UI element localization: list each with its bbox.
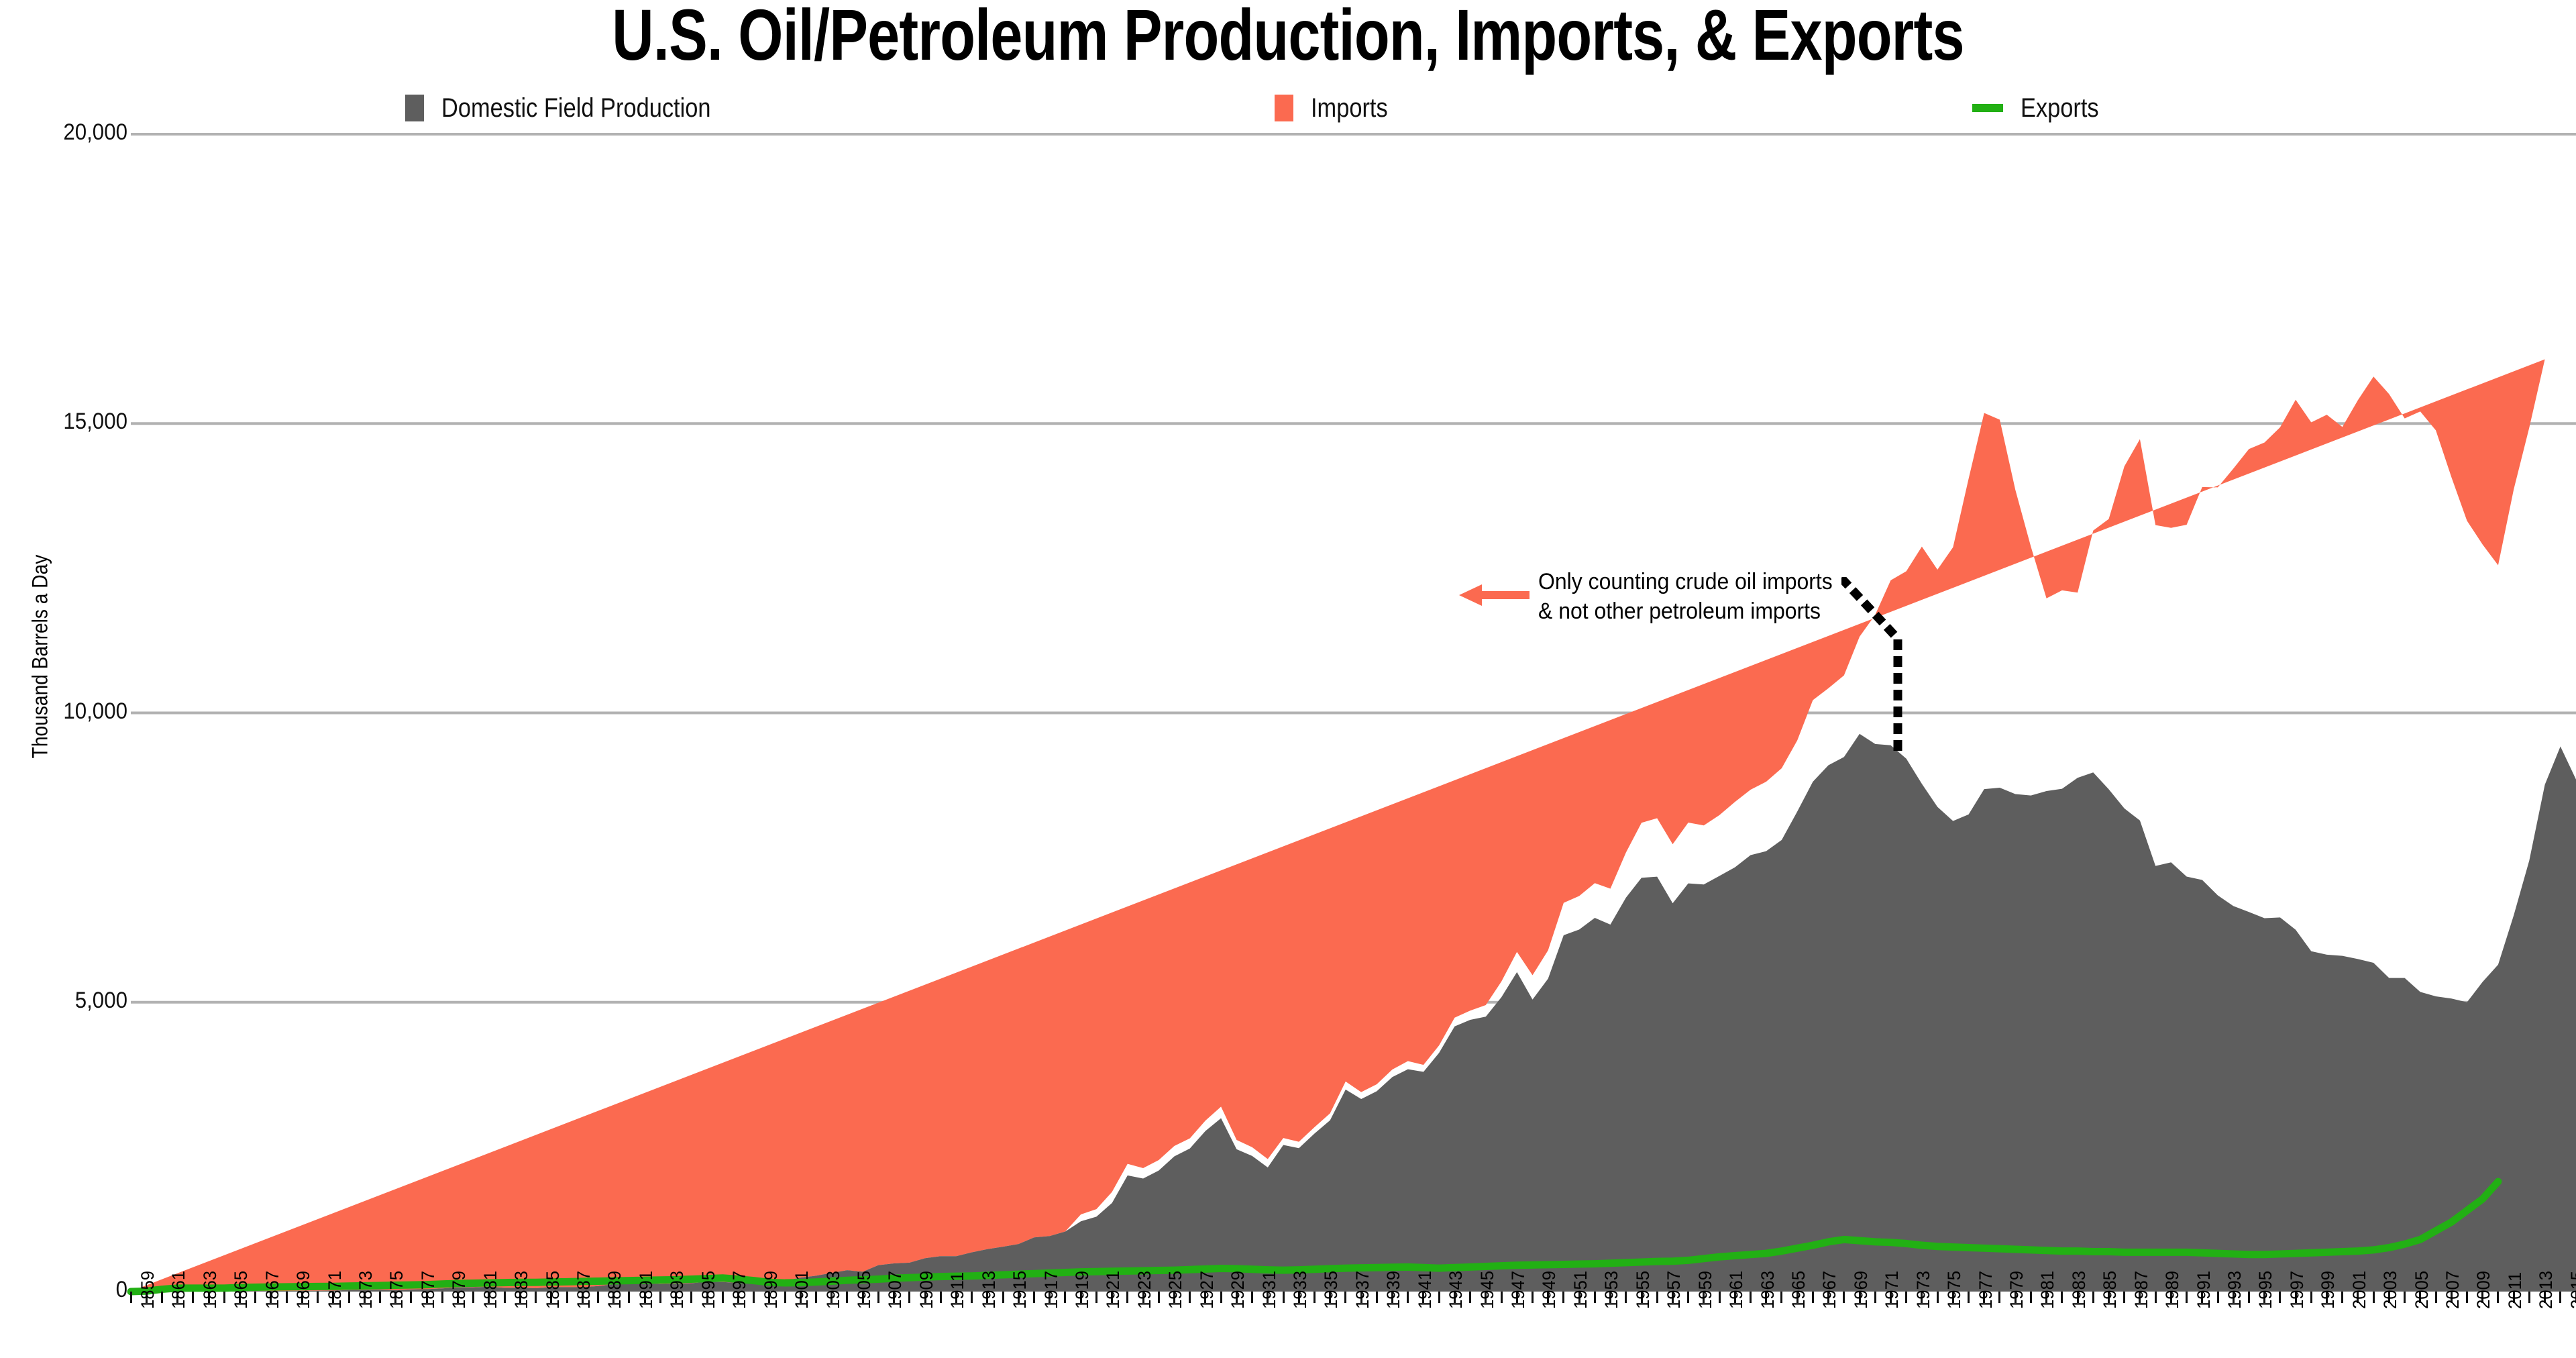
x-tick-label: 1975 (1944, 1271, 1965, 1309)
x-tick-label: 1985 (2100, 1271, 2121, 1309)
x-tick-label: 1977 (1976, 1271, 1996, 1309)
x-tickmark (1376, 1292, 1378, 1303)
x-tickmark (286, 1292, 288, 1303)
x-tickmark (2092, 1292, 2094, 1303)
x-tickmark (908, 1292, 910, 1303)
x-tick-label: 1981 (2037, 1271, 2058, 1309)
x-tick-label: 1883 (511, 1271, 532, 1309)
x-tick-label: 1965 (1788, 1271, 1809, 1309)
x-tick-label: 1945 (1477, 1271, 1498, 1309)
x-tick-label: 1865 (231, 1271, 252, 1309)
x-tickmark (971, 1292, 973, 1303)
x-tick-label: 1911 (947, 1272, 968, 1309)
annotation-arrow-icon (1459, 582, 1529, 609)
x-tickmark (1905, 1292, 1907, 1303)
x-tick-label: 1991 (2194, 1271, 2214, 1309)
x-tick-label: 1989 (2162, 1271, 2183, 1309)
x-tick-label: 1997 (2287, 1271, 2308, 1309)
x-tickmark (1843, 1292, 1845, 1303)
x-tickmark (784, 1292, 786, 1303)
x-tickmark (1532, 1292, 1534, 1303)
annotation-line-2: & not other petroleum imports (1538, 596, 1833, 626)
x-tickmark (1126, 1292, 1128, 1303)
x-tickmark (472, 1292, 474, 1303)
x-tick-label: 1863 (200, 1271, 221, 1309)
x-tickmark (1344, 1292, 1346, 1303)
x-tick-label: 1987 (2131, 1271, 2152, 1309)
x-tick-label: 1891 (636, 1271, 657, 1309)
x-tick-label: 2009 (2473, 1271, 2494, 1309)
x-tickmark (1562, 1292, 1564, 1303)
x-tick-label: 2001 (2349, 1271, 2370, 1309)
x-tick-label: 1979 (2006, 1271, 2027, 1309)
chart-root: U.S. Oil/Petroleum Production, Imports, … (0, 0, 2576, 1358)
x-tick-label: 1983 (2069, 1271, 2090, 1309)
legend-swatch-exports-icon (1972, 104, 2003, 112)
x-tick-label: 1959 (1695, 1271, 1716, 1309)
x-tickmark (1002, 1292, 1004, 1303)
x-tick-label: 1889 (604, 1271, 625, 1309)
x-tickmark (1438, 1292, 1440, 1303)
x-tickmark (317, 1292, 319, 1303)
y-axis: 05,00010,00015,00020,000 (0, 0, 127, 1358)
legend-swatch-production-icon (405, 95, 424, 121)
plot-svg (131, 134, 2576, 1292)
x-tick-label: 1877 (418, 1271, 439, 1309)
x-tickmark (1719, 1292, 1721, 1303)
x-tickmark (1313, 1292, 1316, 1303)
x-tickmark (846, 1292, 848, 1303)
x-tickmark (1937, 1292, 1939, 1303)
x-tickmark (2435, 1292, 2437, 1303)
x-tickmark (1501, 1292, 1503, 1303)
x-tick-label: 1937 (1352, 1271, 1373, 1309)
x-tickmark (2404, 1292, 2406, 1303)
x-tickmark (1780, 1292, 1782, 1303)
x-tick-label: 1967 (1819, 1271, 1840, 1309)
legend-label-imports: Imports (1311, 93, 1388, 123)
x-tick-label: 1939 (1383, 1271, 1404, 1309)
x-tick-label: 2011 (2505, 1272, 2526, 1309)
x-tickmark (2030, 1292, 2032, 1303)
x-tickmark (1812, 1292, 1814, 1303)
legend-label-exports: Exports (2021, 93, 2099, 123)
x-tickmark (1220, 1292, 1222, 1303)
x-tick-label: 2007 (2443, 1271, 2463, 1309)
x-tick-label: 1917 (1041, 1271, 1062, 1309)
x-tickmark (161, 1292, 163, 1303)
x-tickmark (2061, 1292, 2063, 1303)
x-tick-label: 1973 (1913, 1271, 1934, 1309)
x-tick-label: 1901 (792, 1271, 812, 1309)
x-tick-label: 1925 (1165, 1271, 1186, 1309)
x-tickmark (2279, 1292, 2281, 1303)
x-tickmark (2155, 1292, 2157, 1303)
x-tickmark (722, 1292, 724, 1303)
x-tickmark (877, 1292, 879, 1303)
x-tickmark (2528, 1292, 2530, 1303)
x-tick-label: 1879 (449, 1271, 470, 1309)
x-tickmark (410, 1292, 412, 1303)
x-tickmark (1469, 1292, 1471, 1303)
x-tick-label: 1875 (386, 1271, 407, 1309)
x-tick-label: 1919 (1072, 1271, 1093, 1309)
x-tickmark (2248, 1292, 2250, 1303)
x-tick-label: 1969 (1851, 1271, 1872, 1309)
x-tick-label: 1873 (356, 1271, 376, 1309)
x-tickmark (753, 1292, 755, 1303)
x-axis: 1859186118631865186718691871187318751877… (131, 1292, 2576, 1358)
x-tick-label: 1935 (1321, 1271, 1342, 1309)
x-tickmark (192, 1292, 194, 1303)
plot-area (131, 134, 2576, 1292)
x-tickmark (1407, 1292, 1409, 1303)
x-tickmark (597, 1292, 599, 1303)
x-tick-label: 1921 (1103, 1271, 1124, 1309)
x-tickmark (628, 1292, 630, 1303)
x-tickmark (535, 1292, 537, 1303)
x-tickmark (2341, 1292, 2343, 1303)
x-tickmark (1998, 1292, 2000, 1303)
x-tickmark (130, 1292, 132, 1303)
x-tick-label: 1931 (1259, 1271, 1280, 1309)
x-tickmark (1874, 1292, 1876, 1303)
x-tickmark (1687, 1292, 1689, 1303)
x-tickmark (2373, 1292, 2375, 1303)
x-tickmark (1064, 1292, 1066, 1303)
x-tick-label: 1893 (667, 1271, 688, 1309)
x-tickmark (659, 1292, 661, 1303)
x-tickmark (2310, 1292, 2312, 1303)
x-tickmark (2123, 1292, 2125, 1303)
y-tick-label: 20,000 (16, 119, 127, 146)
legend-item-imports[interactable]: Imports (1275, 93, 1400, 123)
x-tickmark (379, 1292, 381, 1303)
annotation-leader-line (1841, 577, 1996, 751)
x-tickmark (348, 1292, 350, 1303)
x-tickmark (690, 1292, 692, 1303)
x-tickmark (254, 1292, 256, 1303)
x-tick-label: 2015 (2567, 1271, 2576, 1309)
y-tick-label: 5,000 (16, 988, 127, 1014)
legend-item-domestic-field-production[interactable]: Domestic Field Production (405, 93, 755, 123)
page-title: U.S. Oil/Petroleum Production, Imports, … (258, 0, 2318, 72)
x-tickmark (2497, 1292, 2499, 1303)
x-tick-label: 1885 (543, 1271, 563, 1309)
x-tick-label: 1951 (1570, 1271, 1591, 1309)
x-tick-label: 1867 (262, 1271, 283, 1309)
x-tick-label: 1859 (138, 1271, 158, 1309)
x-tickmark (815, 1292, 817, 1303)
x-tick-label: 1871 (325, 1271, 345, 1309)
y-axis-title: Thousand Barrels a Day (28, 503, 53, 811)
x-tick-label: 1943 (1446, 1271, 1466, 1309)
x-tickmark (2217, 1292, 2219, 1303)
legend-item-exports[interactable]: Exports (1972, 93, 2112, 123)
x-tickmark (940, 1292, 942, 1303)
x-tickmark (223, 1292, 225, 1303)
x-tick-label: 1963 (1758, 1271, 1778, 1309)
x-tickmark (1158, 1292, 1160, 1303)
x-tick-label: 1897 (729, 1271, 750, 1309)
x-tick-label: 1947 (1508, 1271, 1529, 1309)
x-tick-label: 1953 (1601, 1271, 1622, 1309)
x-tick-label: 1949 (1539, 1271, 1560, 1309)
x-tick-label: 1927 (1197, 1271, 1218, 1309)
x-tickmark (1656, 1292, 1658, 1303)
y-tick-label: 15,000 (16, 409, 127, 435)
x-tick-label: 1909 (916, 1271, 937, 1309)
x-tick-label: 1941 (1415, 1271, 1436, 1309)
x-tick-label: 1905 (854, 1271, 875, 1309)
legend-swatch-imports-icon (1275, 95, 1293, 121)
x-tickmark (1594, 1292, 1596, 1303)
x-tick-label: 1915 (1010, 1271, 1030, 1309)
x-tick-label: 1999 (2318, 1271, 2339, 1309)
x-tick-label: 1993 (2224, 1271, 2245, 1309)
x-tick-label: 1955 (1633, 1271, 1654, 1309)
x-tick-label: 1881 (480, 1271, 501, 1309)
x-tickmark (1251, 1292, 1253, 1303)
x-tick-label: 1869 (293, 1271, 314, 1309)
x-tick-label: 1961 (1726, 1271, 1747, 1309)
x-tickmark (1625, 1292, 1627, 1303)
x-tick-label: 1929 (1228, 1271, 1248, 1309)
x-tick-label: 1899 (761, 1271, 782, 1309)
x-tick-label: 1933 (1290, 1271, 1311, 1309)
x-tick-label: 1913 (979, 1271, 1000, 1309)
x-tick-label: 1907 (885, 1271, 906, 1309)
x-tickmark (2186, 1292, 2188, 1303)
x-tick-label: 2003 (2380, 1271, 2401, 1309)
x-tickmark (1189, 1292, 1191, 1303)
x-tick-label: 1971 (1882, 1271, 1902, 1309)
x-tickmark (504, 1292, 506, 1303)
annotation-text: Only counting crude oil imports & not ot… (1538, 567, 1833, 626)
x-tick-label: 2005 (2412, 1271, 2432, 1309)
x-tick-label: 1995 (2255, 1271, 2276, 1309)
x-tickmark (2466, 1292, 2468, 1303)
x-tickmark (1033, 1292, 1035, 1303)
x-tickmark (1283, 1292, 1285, 1303)
y-tick-label: 0 (16, 1277, 127, 1303)
x-tickmark (1095, 1292, 1097, 1303)
legend-label-production: Domestic Field Production (441, 93, 710, 123)
x-tickmark (441, 1292, 443, 1303)
x-tick-label: 1887 (574, 1271, 594, 1309)
x-tick-label: 1903 (823, 1271, 844, 1309)
x-tickmark (1968, 1292, 1970, 1303)
x-tick-label: 1923 (1134, 1271, 1155, 1309)
x-tick-label: 1861 (168, 1271, 189, 1309)
chart-legend: Domestic Field Production Imports Export… (0, 93, 2576, 123)
annotation-line-1: Only counting crude oil imports (1538, 567, 1833, 596)
x-tick-label: 2013 (2536, 1271, 2557, 1309)
x-tickmark (1750, 1292, 1752, 1303)
x-tickmark (2559, 1292, 2561, 1303)
x-tick-label: 1895 (698, 1271, 719, 1309)
x-tick-label: 1957 (1664, 1271, 1684, 1309)
x-tickmark (566, 1292, 568, 1303)
